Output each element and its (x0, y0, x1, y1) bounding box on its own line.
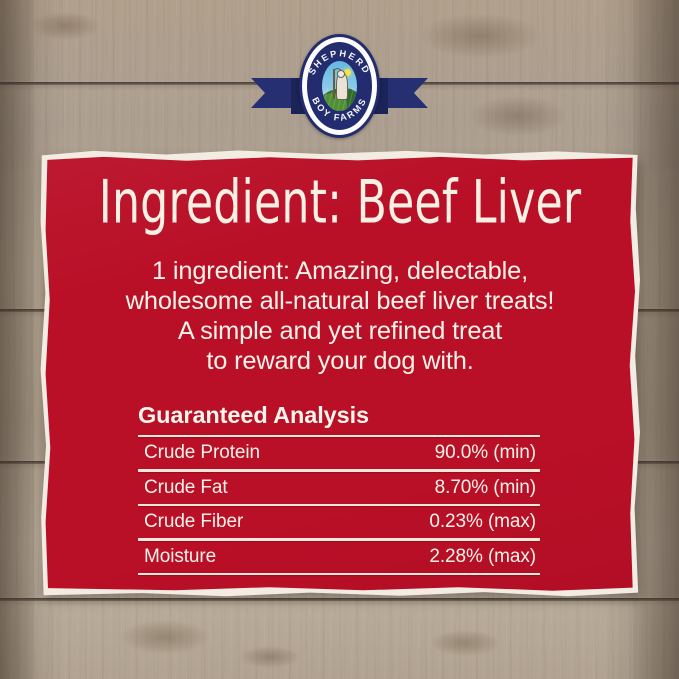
wood-knot-4 (120, 620, 210, 654)
label-content: Ingredient: Beef Liver 1 ingredient: Ama… (45, 156, 635, 592)
wood-knot-2 (30, 12, 100, 40)
description-line-3: A simple and yet refined treat (69, 316, 611, 346)
nutrient-label: Crude Fiber (144, 511, 243, 533)
table-rule-bottom (138, 573, 540, 575)
table-row: Crude Fiber 0.23% (max) (138, 506, 540, 538)
product-label-image: SHEPHERD BOY FARMS Ingredient: Beef Live… (0, 0, 679, 679)
logo-bottom-text: BOY FARMS (310, 96, 369, 123)
logo-top-text: SHEPHERD (307, 48, 373, 76)
wood-knot-1 (420, 14, 540, 58)
table-row: Crude Fat 8.70% (min) (138, 472, 540, 504)
logo-arc-text: SHEPHERD BOY FARMS (299, 34, 380, 138)
nutrient-amount: 90.0% (min) (435, 442, 536, 464)
guaranteed-analysis-block: Guaranteed Analysis Crude Protein 90.0% … (138, 402, 540, 575)
page-title: Ingredient: Beef Liver (98, 172, 582, 233)
wood-knot-5 (430, 630, 500, 656)
description-line-2: wholesome all-natural beef liver treats! (69, 286, 611, 316)
guaranteed-analysis-title: Guaranteed Analysis (138, 402, 540, 429)
wood-knot-6 (240, 646, 300, 668)
nutrient-label: Crude Protein (144, 442, 260, 464)
nutrient-label: Moisture (144, 546, 216, 568)
product-description: 1 ingredient: Amazing, delectable, whole… (69, 256, 611, 376)
description-line-4: to reward your dog with. (69, 346, 611, 376)
table-row: Moisture 2.28% (max) (138, 541, 540, 573)
table-row: Crude Protein 90.0% (min) (138, 437, 540, 469)
nutrient-amount: 0.23% (max) (429, 511, 536, 533)
wood-knot-3 (470, 96, 566, 136)
brand-logo: SHEPHERD BOY FARMS (279, 34, 400, 138)
description-line-1: 1 ingredient: Amazing, delectable, (69, 256, 611, 286)
nutrient-amount: 8.70% (min) (435, 477, 536, 499)
logo-badge-outer-ring: SHEPHERD BOY FARMS (299, 34, 380, 138)
nutrient-label: Crude Fat (144, 477, 228, 499)
nutrient-amount: 2.28% (max) (429, 546, 536, 568)
